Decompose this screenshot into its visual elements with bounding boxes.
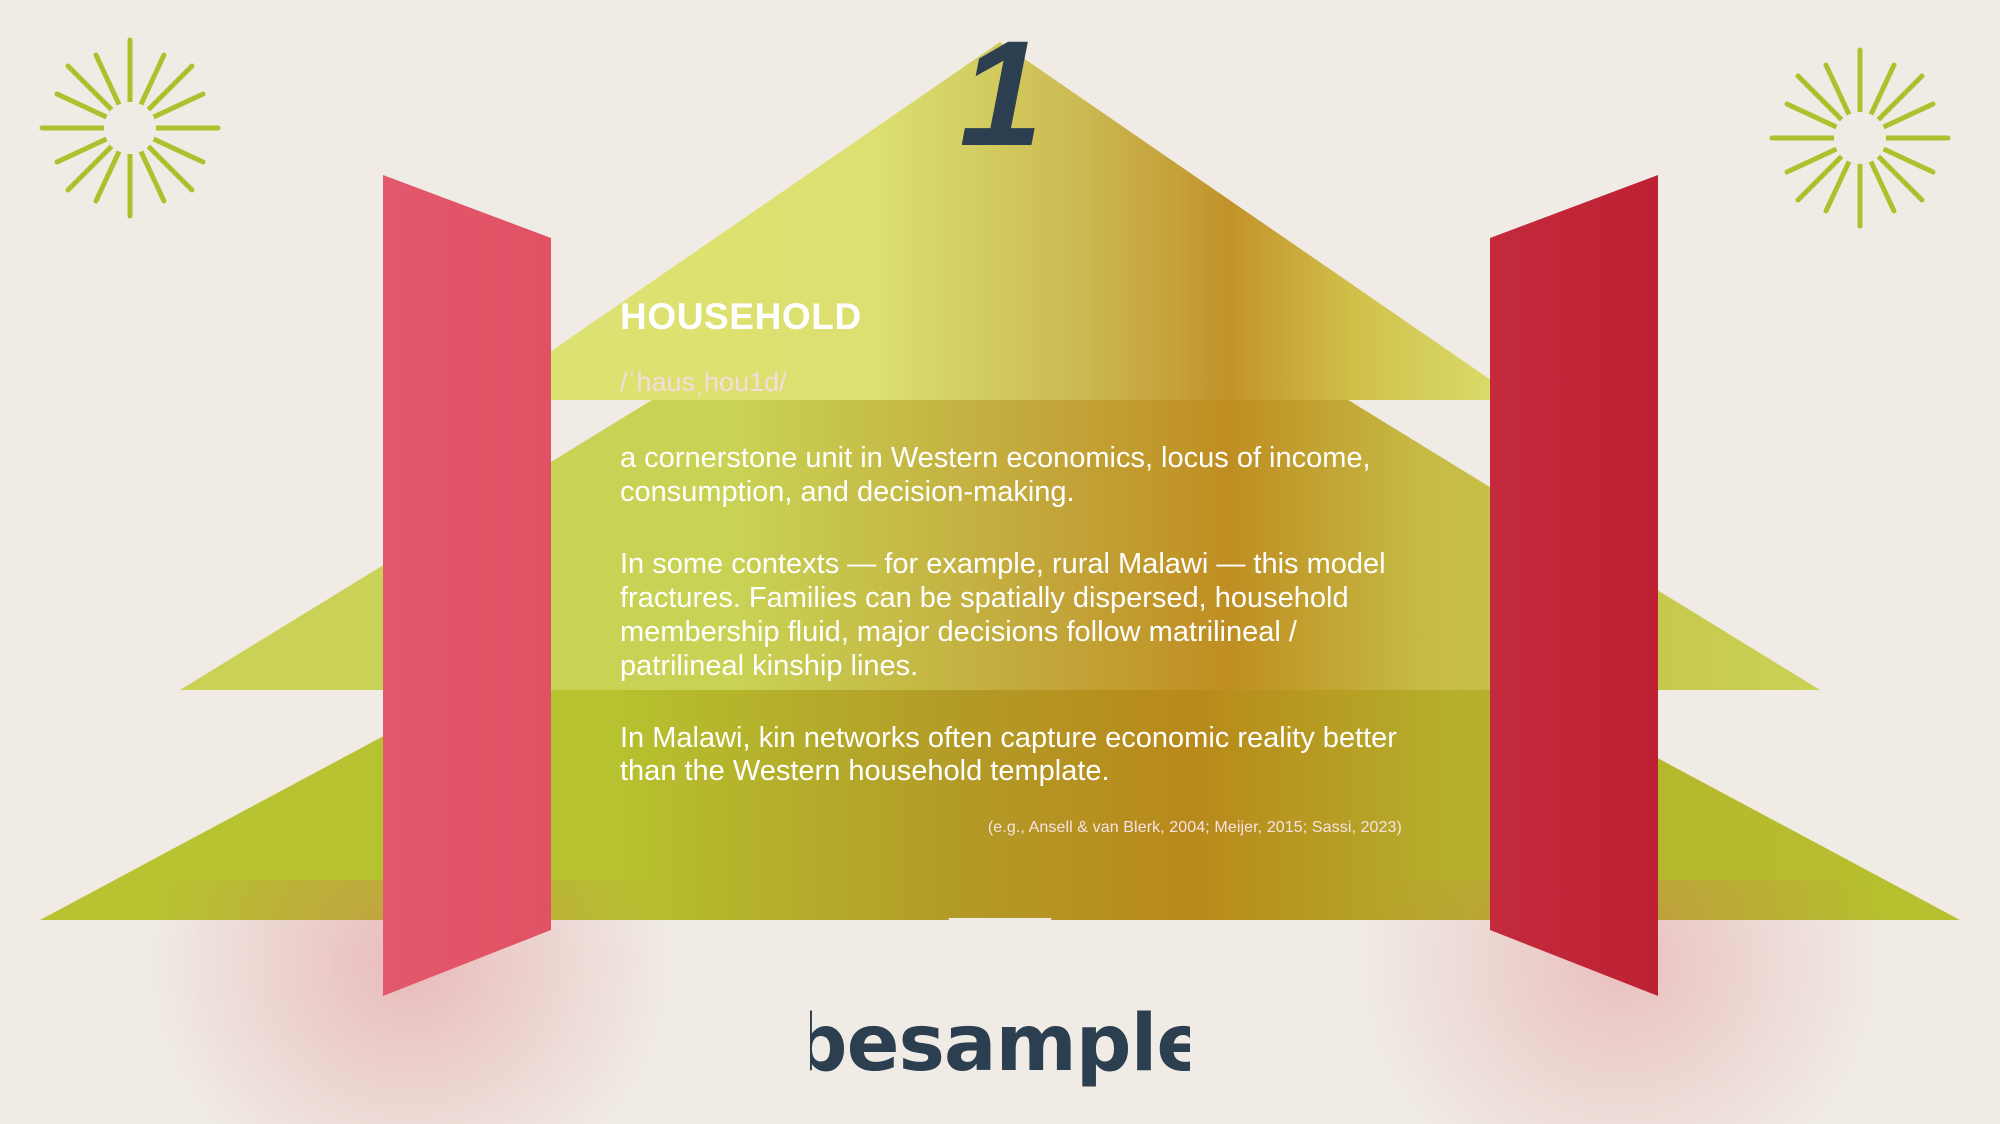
term-title: HOUSEHOLD [620,298,1410,335]
inverted-triangle-notch-fill [948,918,1052,992]
svg-text:besample: besample [810,1000,1190,1089]
definition-paragraph-2: In some contexts — for example, rural Ma… [620,548,1410,684]
definition-card: HOUSEHOLD /ˈhausˌhou1d/ a cornerstone un… [548,236,1480,914]
phonetic-transcription: /ˈhausˌhou1d/ [620,369,1410,396]
definition-paragraph-1: a cornerstone unit in Western economics,… [620,442,1410,510]
brand-logo: besample [0,1000,2000,1097]
citation-text: (e.g., Ansell & van Blerk, 2004; Meijer,… [620,819,1410,837]
red-flap-right [1478,170,1658,1000]
slide-number: 1 [0,18,2000,168]
red-flap-left [383,170,563,1000]
slide-canvas: 1 HOUSEHOLD /ˈ [0,0,2000,1124]
definition-paragraph-3: In Malawi, kin networks often capture ec… [620,722,1410,790]
besample-wordmark-icon: besample [810,1000,1190,1092]
